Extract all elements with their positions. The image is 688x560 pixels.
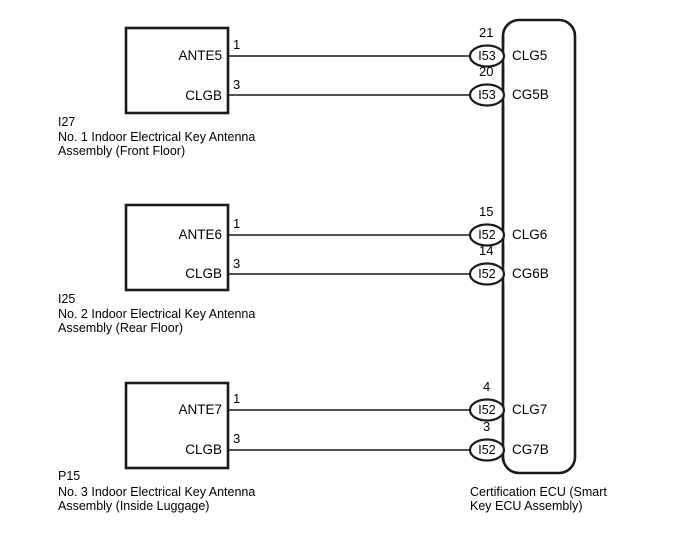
- antenna-3-pin-3-label: CLGB: [126, 443, 222, 457]
- ecu-terminal-15-pin: 15: [479, 205, 493, 218]
- ecu-terminal-3-signal: CG7B: [512, 443, 549, 457]
- ecu-terminal-14-signal: CG6B: [512, 267, 549, 281]
- antenna-2-pin-1-number: 1: [233, 217, 240, 230]
- ecu-terminal-3-pin: 3: [483, 420, 490, 433]
- ecu-terminal-20-connector: I53: [470, 89, 504, 102]
- ecu-terminal-21-pin: 21: [479, 26, 493, 39]
- antenna-2-caption-line1: No. 2 Indoor Electrical Key Antenna: [58, 308, 255, 321]
- ecu-terminal-20-signal: CG5B: [512, 88, 549, 102]
- diagram-graphics: [0, 0, 688, 560]
- antenna-3-pin-1-number: 1: [233, 392, 240, 405]
- antenna-1-caption-line1: No. 1 Indoor Electrical Key Antenna: [58, 131, 255, 144]
- ecu-terminal-21-connector: I53: [470, 50, 504, 63]
- antenna-1-pin-1-label: ANTE5: [126, 49, 222, 63]
- antenna-2-pin-1-label: ANTE6: [126, 228, 222, 242]
- antenna-1-pin-1-number: 1: [233, 38, 240, 51]
- antenna-2-caption-line2: Assembly (Rear Floor): [58, 322, 183, 335]
- ecu-terminal-14-pin: 14: [479, 244, 493, 257]
- antenna-2-id: I25: [58, 293, 75, 306]
- antenna-3-pin-3-number: 3: [233, 432, 240, 445]
- antenna-2-pin-3-label: CLGB: [126, 267, 222, 281]
- ecu-terminal-15-connector: I52: [470, 229, 504, 242]
- ecu-terminal-3-connector: I52: [470, 444, 504, 457]
- antenna-3-pin-1-label: ANTE7: [126, 403, 222, 417]
- ecu-terminal-4-connector: I52: [470, 404, 504, 417]
- antenna-1-caption-line2: Assembly (Front Floor): [58, 145, 185, 158]
- antenna-3-caption-line2: Assembly (Inside Luggage): [58, 500, 209, 513]
- antenna-1-pin-3-label: CLGB: [126, 89, 222, 103]
- antenna-1-pin-3-number: 3: [233, 78, 240, 91]
- wiring-diagram: ANTE5 CLGB 1 3 I27 No. 1 Indoor Electric…: [0, 0, 688, 560]
- ecu-terminal-14-connector: I52: [470, 268, 504, 281]
- antenna-2-pin-3-number: 3: [233, 257, 240, 270]
- ecu-terminal-15-signal: CLG6: [512, 228, 547, 242]
- ecu-terminal-20-pin: 20: [479, 65, 493, 78]
- ecu-caption-line1: Certification ECU (Smart: [470, 486, 607, 499]
- ecu-terminal-4-pin: 4: [483, 380, 490, 393]
- antenna-1-id: I27: [58, 116, 75, 129]
- antenna-3-id: P15: [58, 470, 80, 483]
- ecu-caption-line2: Key ECU Assembly): [470, 500, 583, 513]
- ecu-terminal-21-signal: CLG5: [512, 49, 547, 63]
- ecu-terminal-4-signal: CLG7: [512, 403, 547, 417]
- antenna-3-caption-line1: No. 3 Indoor Electrical Key Antenna: [58, 486, 255, 499]
